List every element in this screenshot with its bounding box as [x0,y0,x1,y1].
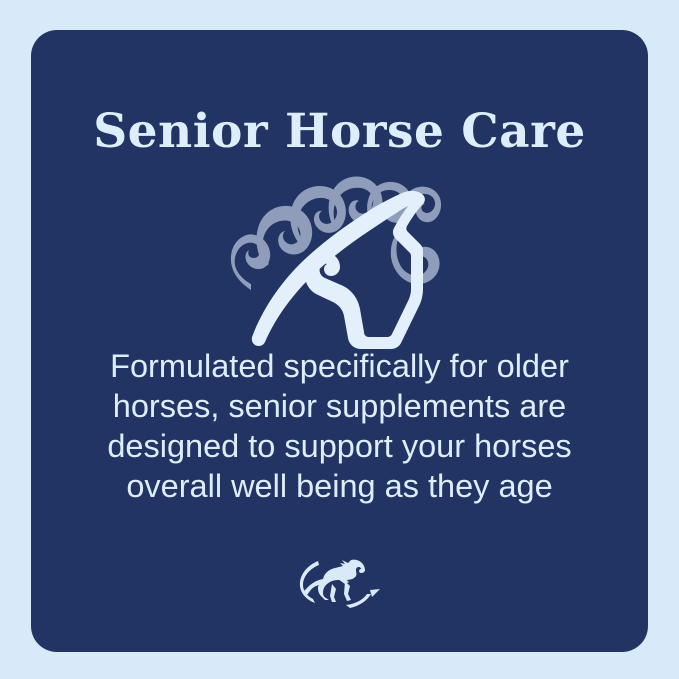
horse-head-outline-icon [215,172,465,354]
promo-card-inner: Senior Horse Care [31,30,648,652]
body-copy: Formulated specifically for older horses… [75,346,605,506]
galloping-horse-logo-icon [288,548,392,612]
promo-graphic-root: Senior Horse Care [0,0,679,679]
page-title: Senior Horse Care [31,108,648,155]
promo-card: Senior Horse Care [31,30,648,652]
